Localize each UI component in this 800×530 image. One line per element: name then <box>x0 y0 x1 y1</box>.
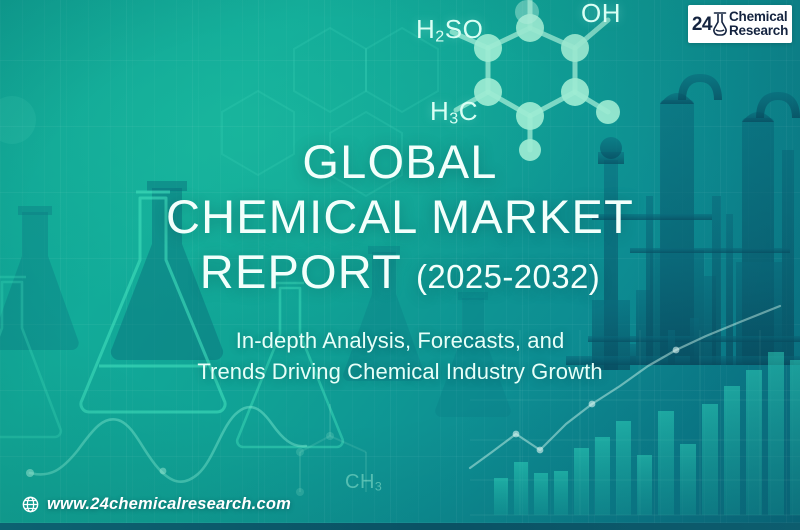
subtitle-line-1: In-depth Analysis, Forecasts, and <box>0 325 800 356</box>
report-banner: H2SO OH H3C CH3 24 Chemical Research GLO… <box>0 0 800 530</box>
logo-number: 24 <box>692 15 712 34</box>
headline-report: REPORT <box>200 248 402 296</box>
globe-icon <box>22 496 39 513</box>
molecule-label-oh: OH <box>581 0 621 29</box>
molecule-label-h3c: H3C <box>430 96 478 129</box>
subtitle-block: In-depth Analysis, Forecasts, and Trends… <box>0 325 800 387</box>
molecule-label-ch3: CH3 <box>345 471 382 494</box>
logo-word-research: Research <box>729 24 788 38</box>
website-url[interactable]: www.24chemicalresearch.com <box>47 495 291 514</box>
headline-line-1: GLOBAL <box>0 138 800 186</box>
logo-wordmark: Chemical Research <box>729 10 788 38</box>
footer-bar: www.24chemicalresearch.com <box>22 495 291 514</box>
decor-dot <box>0 96 36 144</box>
headline-years: (2025-2032) <box>416 260 600 294</box>
logo-word-chemical: Chemical <box>729 10 788 24</box>
flask-icon <box>712 11 728 37</box>
molecule-label-h2so: H2SO <box>416 14 483 47</box>
bottom-strip <box>0 523 800 530</box>
headline-block: GLOBAL CHEMICAL MARKET REPORT (2025-2032… <box>0 138 800 296</box>
subtitle-line-2: Trends Driving Chemical Industry Growth <box>0 356 800 387</box>
brand-logo[interactable]: 24 Chemical Research <box>688 5 792 43</box>
headline-line-3: REPORT (2025-2032) <box>0 248 800 296</box>
headline-line-2: CHEMICAL MARKET <box>0 193 800 241</box>
wave-curve-icon <box>26 407 306 482</box>
